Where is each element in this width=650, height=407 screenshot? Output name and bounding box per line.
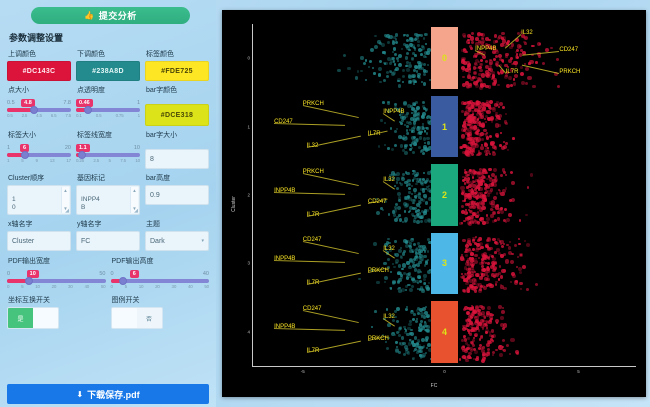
data-point — [468, 204, 472, 208]
data-point — [463, 308, 466, 311]
data-point — [376, 281, 379, 284]
data-point — [505, 174, 507, 176]
data-point — [422, 307, 426, 311]
data-point — [519, 219, 521, 221]
data-point — [390, 127, 393, 130]
data-point — [396, 320, 399, 323]
data-point — [487, 190, 491, 194]
y-axis-tick: 2 — [247, 192, 250, 197]
data-point — [419, 136, 422, 139]
data-point — [493, 183, 497, 187]
data-point — [464, 356, 468, 360]
data-point — [404, 217, 408, 221]
data-point — [392, 40, 394, 42]
data-point — [492, 220, 495, 223]
data-point — [526, 288, 529, 291]
bar-text-color-swatch[interactable]: #DCE318 — [145, 104, 209, 126]
y-axis-name-input[interactable]: FC — [76, 231, 140, 251]
pdf-width-slider[interactable]: 0 10 50 0 5 10 20 30 40 50 — [7, 268, 106, 289]
pdf-width-track[interactable] — [7, 279, 106, 283]
coord-flip-toggle[interactable]: 是 — [7, 307, 59, 329]
data-point — [464, 199, 467, 202]
data-point — [473, 125, 477, 129]
data-point — [423, 345, 425, 347]
point-alpha-slider[interactable]: 0.46 1 0.1 0.5 0.75 1 — [76, 97, 140, 118]
cluster-bar-4: 4 — [431, 301, 459, 363]
data-point — [511, 181, 515, 185]
pdf-height-knob[interactable] — [119, 277, 127, 285]
cluster-row: 33CD247IL32INPP4BPRKCHIL7R — [253, 229, 636, 297]
data-point — [497, 217, 501, 221]
data-point — [479, 195, 481, 197]
data-point — [490, 318, 493, 321]
data-point — [411, 185, 413, 187]
data-point — [506, 344, 509, 347]
pdf-width-field: PDF输出宽度 0 10 50 0 5 10 20 30 40 — [7, 256, 106, 289]
data-point — [500, 72, 503, 75]
data-point — [379, 81, 381, 83]
up-color-field: 上调颜色 #DC143C — [7, 49, 71, 81]
data-point — [479, 187, 483, 191]
data-point — [411, 142, 413, 144]
data-point — [360, 70, 362, 72]
data-point — [467, 39, 470, 42]
data-point — [422, 189, 426, 193]
y-axis-name-label: y轴名字 — [77, 219, 140, 229]
data-point — [499, 265, 502, 268]
data-point — [400, 276, 403, 279]
label-size-slider[interactable]: 1 6 20 1 5 9 13 17 — [7, 142, 71, 163]
data-point — [486, 321, 489, 324]
cluster-order-label: Cluster顺序 — [8, 173, 71, 183]
tick: 0.5 — [96, 113, 102, 118]
data-point — [394, 130, 397, 133]
data-point — [384, 122, 386, 124]
data-point — [414, 65, 417, 68]
data-point — [479, 288, 482, 291]
data-point — [486, 239, 489, 242]
data-point — [411, 193, 413, 195]
tick: 7.5 — [65, 113, 71, 118]
data-point — [518, 238, 520, 240]
data-point — [471, 323, 473, 325]
data-point — [505, 53, 509, 57]
bar-text-size-field: bar字大小 8 — [145, 130, 209, 169]
data-point — [472, 237, 474, 239]
data-point — [493, 40, 497, 44]
data-point — [422, 112, 426, 116]
data-point — [501, 146, 505, 150]
gene-label: INPP4B — [274, 324, 295, 330]
data-point — [487, 306, 491, 310]
down-color-field: 下调颜色 #238A8D — [76, 49, 140, 81]
data-point — [369, 60, 373, 64]
data-point — [488, 85, 491, 88]
data-point — [474, 271, 476, 273]
data-point — [484, 183, 487, 186]
data-point — [488, 320, 492, 324]
cluster-gene-row: Cluster顺序 1 0 ▲▼ ◢ 基因标记 INPP4 B ▲▼ ◢ bar… — [7, 173, 209, 215]
data-point — [480, 110, 484, 114]
data-point — [393, 266, 396, 269]
data-point — [391, 57, 394, 60]
data-point — [396, 307, 400, 311]
data-point — [498, 118, 501, 121]
gene-label: IL32 — [521, 30, 533, 36]
data-point — [542, 62, 545, 65]
label-line-width-knob[interactable] — [78, 151, 86, 159]
data-point — [400, 115, 404, 119]
data-point — [396, 177, 399, 180]
legend-switch-off[interactable]: 否 — [137, 308, 162, 328]
data-point — [485, 221, 488, 224]
data-point — [357, 70, 359, 72]
data-point — [466, 186, 469, 189]
data-point — [488, 168, 491, 171]
coord-flip-off[interactable] — [33, 308, 58, 328]
tick: 1 — [7, 158, 9, 163]
data-point — [522, 265, 526, 269]
data-point — [531, 45, 533, 47]
data-point — [478, 257, 480, 259]
gene-label: IL32 — [307, 143, 319, 149]
data-point — [474, 63, 478, 67]
cluster-order-textarea[interactable]: 1 0 ▲▼ ◢ — [7, 185, 71, 215]
point-size-field: 点大小 0.5 4.8 7.8 0.5 2.5 4.5 6.5 7.5 — [7, 85, 71, 126]
data-point — [374, 35, 376, 37]
data-point — [404, 146, 407, 149]
gene-label: PRKCH — [368, 336, 389, 342]
data-point — [460, 256, 464, 260]
submit-analysis-label: 提交分析 — [99, 9, 137, 22]
panel-title: 参数调整设置 — [9, 31, 209, 44]
data-point — [415, 320, 418, 323]
data-point — [410, 117, 414, 121]
data-point — [490, 76, 492, 78]
data-point — [395, 41, 398, 44]
data-point — [502, 106, 505, 109]
data-point — [387, 101, 389, 103]
theme-select[interactable]: Dark ▾ — [145, 231, 209, 251]
pdf-width-max: 50 — [99, 271, 105, 277]
data-point — [383, 262, 387, 266]
data-point — [421, 289, 425, 293]
data-point — [500, 316, 504, 320]
data-point — [384, 281, 386, 283]
data-point — [411, 238, 413, 240]
data-point — [401, 288, 405, 292]
x-axis-title: FC — [222, 383, 646, 389]
pdf-height-value: 6 — [130, 270, 139, 278]
data-point — [420, 320, 423, 323]
data-point — [519, 271, 522, 274]
data-point — [502, 327, 505, 330]
data-point — [416, 138, 419, 141]
data-point — [472, 266, 474, 268]
y-axis-tick: 1 — [247, 124, 250, 129]
gene-label: CD247 — [303, 237, 322, 243]
data-point — [557, 85, 561, 89]
data-point — [347, 67, 350, 70]
data-point — [475, 142, 478, 145]
tick: 1 — [138, 113, 140, 118]
label-color-label: 标签颜色 — [146, 49, 209, 59]
legend-switch-field: 图例开关 否 — [111, 295, 210, 329]
data-point — [389, 287, 391, 289]
coord-flip-field: 坐标互换开关 是 — [7, 295, 106, 329]
data-point — [417, 339, 420, 342]
bar-text-size-input[interactable]: 8 — [145, 149, 209, 169]
point-alpha-track[interactable] — [76, 108, 140, 112]
point-row: 点大小 0.5 4.8 7.8 0.5 2.5 4.5 6.5 7.5 — [7, 85, 209, 126]
label-size-min: 1 — [7, 145, 10, 151]
data-point — [496, 135, 499, 138]
data-point — [478, 202, 481, 205]
data-point — [504, 75, 508, 79]
data-point — [492, 75, 496, 79]
data-point — [490, 142, 494, 146]
point-size-knob[interactable] — [30, 106, 38, 114]
data-point — [426, 315, 429, 318]
label-size-knob[interactable] — [21, 151, 29, 159]
point-size-slider[interactable]: 0.5 4.8 7.8 0.5 2.5 4.5 6.5 7.5 — [7, 97, 71, 118]
data-point — [500, 275, 504, 279]
label-line-width-track[interactable] — [76, 153, 140, 157]
data-point — [526, 243, 530, 247]
pdf-height-track[interactable] — [111, 279, 210, 283]
data-point — [462, 349, 465, 352]
data-point — [483, 129, 486, 132]
data-point — [413, 199, 416, 202]
gene-label: CD247 — [303, 306, 322, 312]
data-point — [473, 66, 477, 70]
data-point — [421, 210, 424, 213]
submit-analysis-button[interactable]: 👍 提交分析 — [31, 7, 190, 24]
data-point — [505, 142, 508, 145]
x-axis-name-input[interactable]: Cluster — [7, 231, 71, 251]
bar-text-size-label: bar字大小 — [146, 130, 209, 140]
data-point — [408, 122, 412, 126]
data-point — [459, 358, 461, 360]
data-point — [417, 126, 421, 130]
resize-grip-icon[interactable]: ◢ — [65, 208, 69, 214]
chevron-up-icon: ▲ — [63, 188, 67, 194]
data-point — [466, 84, 469, 87]
data-point — [500, 132, 502, 134]
label-line-width-slider[interactable]: 1.1 10 0.25 2.5 5 7.5 10 — [76, 142, 140, 163]
data-point — [425, 188, 427, 190]
data-point — [462, 239, 465, 242]
data-point — [394, 53, 397, 56]
data-point — [409, 288, 413, 292]
data-point — [501, 310, 505, 314]
data-point — [480, 59, 483, 62]
data-point — [497, 84, 499, 86]
data-point — [482, 169, 486, 173]
tick: 20 — [155, 284, 160, 289]
data-point — [474, 254, 477, 257]
cluster-bar-2: 2 — [431, 164, 459, 226]
pdf-height-ticks: 0 5 10 20 30 40 50 — [111, 284, 210, 289]
data-point — [497, 211, 500, 214]
data-point — [510, 171, 513, 174]
data-point — [468, 42, 470, 44]
data-point — [398, 54, 402, 58]
data-point — [402, 69, 406, 73]
data-point — [500, 323, 504, 327]
toggle-row: 坐标互换开关 是 图例开关 否 — [7, 295, 209, 329]
data-point — [365, 79, 367, 81]
label-size-ticks: 1 5 9 13 17 — [7, 158, 71, 163]
data-point — [485, 331, 488, 334]
data-point — [481, 335, 483, 337]
data-point — [418, 200, 421, 203]
download-pdf-button[interactable]: ⬇ 下载保存.pdf — [7, 384, 209, 404]
data-point — [424, 264, 427, 267]
label-size-track[interactable] — [7, 153, 71, 157]
data-point — [464, 251, 467, 254]
data-point — [471, 32, 474, 35]
data-point — [513, 82, 517, 86]
pdf-width-knob[interactable] — [25, 277, 33, 285]
data-point — [388, 213, 390, 215]
data-point — [403, 43, 406, 46]
data-point — [368, 66, 370, 68]
data-point — [520, 66, 523, 69]
data-point — [423, 255, 427, 259]
data-point — [520, 72, 524, 76]
up-color-swatch[interactable]: #DC143C — [7, 61, 71, 81]
data-point — [500, 174, 503, 177]
data-point — [371, 326, 373, 328]
gene-label: IL7R — [307, 348, 320, 354]
data-point — [511, 272, 515, 276]
data-point — [484, 142, 487, 145]
data-point — [363, 62, 366, 65]
bar-height-input[interactable]: 0.9 — [145, 185, 209, 205]
resize-grip-icon[interactable]: ◢ — [134, 208, 138, 214]
data-point — [466, 153, 470, 157]
data-point — [378, 67, 382, 71]
gene-label: IL7R — [307, 212, 320, 218]
data-point — [397, 288, 399, 290]
data-point — [514, 280, 518, 284]
data-point — [482, 357, 486, 361]
data-point — [502, 346, 504, 348]
data-point — [495, 123, 499, 127]
data-point — [503, 287, 506, 290]
data-point — [469, 68, 471, 70]
bar-height-field: bar高度 0.9 — [145, 173, 209, 215]
gene-label: CD247 — [559, 47, 578, 53]
data-point — [482, 346, 485, 349]
data-point — [459, 222, 462, 225]
legend-switch-toggle[interactable]: 否 — [111, 307, 163, 329]
point-alpha-label: 点透明度 — [77, 85, 140, 95]
data-point — [524, 36, 528, 40]
data-point — [395, 262, 398, 265]
data-point — [515, 64, 518, 67]
data-point — [374, 310, 377, 313]
data-point — [481, 33, 485, 37]
data-point — [405, 203, 409, 207]
data-point — [390, 271, 392, 273]
y-axis-tick: 4 — [247, 329, 250, 334]
down-color-swatch[interactable]: #238A8D — [76, 61, 140, 81]
tick: 10 — [135, 158, 140, 163]
data-point — [418, 212, 421, 215]
data-point — [420, 220, 423, 223]
gene-label: IL7R — [506, 69, 519, 75]
settings-sidebar: 👍 提交分析 参数调整设置 上调颜色 #DC143C 下调颜色 #238A8D … — [0, 0, 216, 407]
point-size-track[interactable] — [7, 108, 71, 112]
data-point — [524, 240, 526, 242]
data-point — [461, 128, 465, 132]
data-point — [416, 70, 419, 73]
chart-area: Cluster FC 00IL32INPP4BCD247IL7RPRKCH11P… — [216, 0, 650, 407]
data-point — [423, 274, 427, 278]
point-alpha-value: 0.46 — [76, 99, 93, 107]
coord-flip-on[interactable]: 是 — [8, 308, 33, 328]
data-point — [501, 59, 504, 62]
data-point — [488, 39, 491, 42]
data-point — [462, 76, 464, 78]
data-point — [473, 55, 476, 58]
data-point — [501, 245, 505, 249]
data-point — [493, 168, 497, 172]
point-alpha-knob[interactable] — [84, 106, 92, 114]
data-point — [425, 56, 427, 58]
data-point — [480, 323, 484, 327]
data-point — [461, 205, 464, 208]
data-point — [478, 312, 482, 316]
label-line-width-field: 标签线宽度 1.1 10 0.25 2.5 5 7.5 10 — [76, 130, 140, 169]
data-point — [485, 121, 487, 123]
tick: 0 — [111, 284, 113, 289]
data-point — [465, 51, 467, 53]
data-point — [464, 119, 467, 122]
data-point — [550, 47, 552, 49]
data-point — [498, 106, 500, 108]
gene-markers-textarea[interactable]: INPP4 B ▲▼ ◢ — [76, 185, 140, 215]
data-point — [462, 275, 466, 279]
data-point — [392, 51, 394, 53]
data-point — [405, 56, 408, 59]
data-point — [409, 43, 413, 47]
data-point — [382, 101, 385, 104]
legend-switch-on[interactable] — [112, 308, 137, 328]
data-point — [398, 63, 402, 67]
label-color-swatch[interactable]: #FDE725 — [145, 61, 209, 81]
data-point — [472, 176, 475, 179]
pdf-height-slider[interactable]: 0 6 40 0 5 10 20 30 40 50 — [111, 268, 210, 289]
data-point — [384, 144, 386, 146]
data-point — [471, 41, 474, 44]
data-point — [380, 119, 382, 121]
tick: 0.5 — [7, 113, 13, 118]
data-point — [425, 339, 429, 343]
data-point — [410, 332, 414, 336]
data-point — [407, 132, 409, 134]
point-size-ticks: 0.5 2.5 4.5 6.5 7.5 — [7, 113, 71, 118]
data-point — [417, 40, 420, 43]
data-point — [510, 260, 514, 264]
data-point — [501, 37, 503, 39]
data-point — [373, 242, 377, 246]
data-point — [489, 177, 491, 179]
data-point — [412, 202, 414, 204]
data-point — [412, 151, 415, 154]
